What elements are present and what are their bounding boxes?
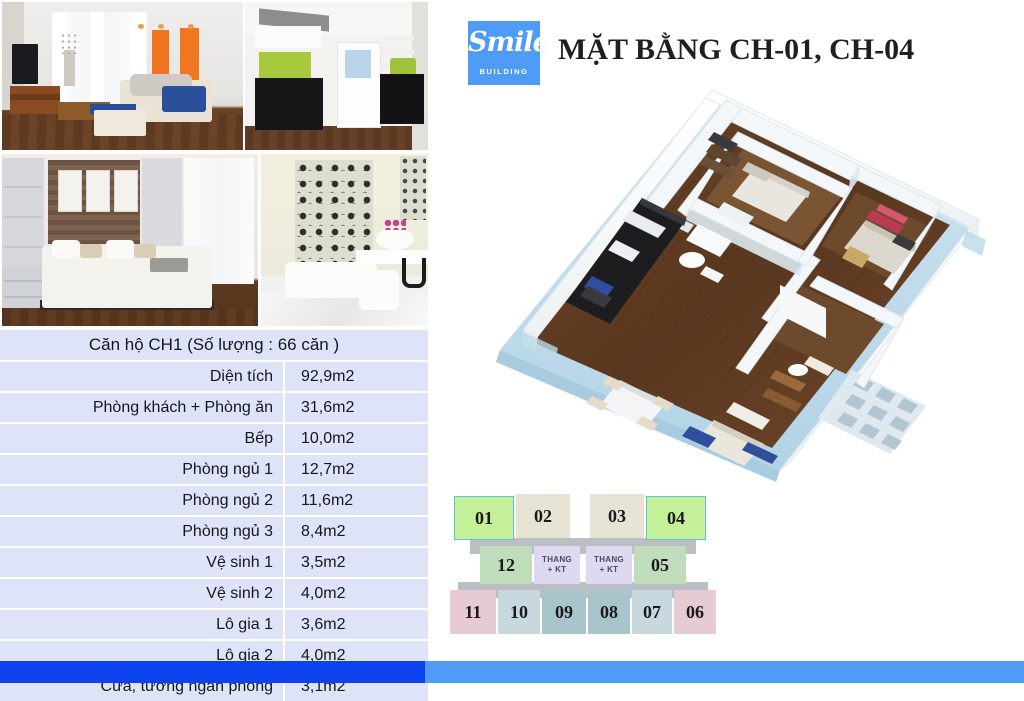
spec-row-label: Diện tích (0, 362, 285, 391)
unit-label-05: 05 (651, 555, 669, 576)
unit-label-02: 02 (534, 506, 552, 527)
unit-cell-10[interactable]: 10 (498, 590, 540, 634)
unit-label-03: 03 (608, 506, 626, 527)
stair-cell-right[interactable]: THANG + KT (586, 546, 632, 584)
unit-cell-02[interactable]: 02 (516, 494, 570, 538)
unit-label-06: 06 (686, 602, 704, 623)
unit-cell-09[interactable]: 09 (542, 590, 586, 634)
spec-row-label: Bếp (0, 424, 285, 453)
spec-row-value: 11,6m2 (285, 486, 428, 515)
spec-table-body: Diện tích92,9m2Phòng khách + Phòng ăn31,… (0, 362, 428, 701)
spec-row-label: Phòng ngủ 2 (0, 486, 285, 515)
bedroom-photo (2, 154, 258, 326)
unit-key-map: 01 02 03 04 12 THANG + KT THANG + KT (450, 492, 716, 640)
unit-cell-01[interactable]: 01 (454, 496, 514, 540)
spec-table: Căn hộ CH1 (Số lượng : 66 căn ) Diện tíc… (0, 330, 428, 701)
spec-row-value: 10,0m2 (285, 424, 428, 453)
stair-label-line1: THANG (542, 555, 572, 565)
stair-cell-left[interactable]: THANG + KT (534, 546, 580, 584)
spec-row-value: 92,9m2 (285, 362, 428, 391)
footer-bar-right (425, 661, 1024, 683)
unit-cell-03[interactable]: 03 (590, 494, 644, 538)
spec-row-label: Lô gia 1 (0, 610, 285, 639)
spec-row-value: 8,4m2 (285, 517, 428, 546)
unit-label-08: 08 (600, 602, 618, 623)
stair-label-line2: + KT (548, 565, 567, 575)
spec-row: Phòng khách + Phòng ăn31,6m2 (0, 393, 428, 424)
spec-row-label: Phòng ngủ 3 (0, 517, 285, 546)
spec-row: Diện tích92,9m2 (0, 362, 428, 393)
footer-bar-left (0, 661, 425, 683)
unit-label-01: 01 (475, 508, 493, 529)
logo-script-text: Smile (468, 27, 540, 58)
brochure-page: Căn hộ CH1 (Số lượng : 66 căn ) Diện tíc… (0, 0, 1024, 683)
spec-row-label: Phòng khách + Phòng ăn (0, 393, 285, 422)
stair-label-line2: + KT (600, 565, 619, 575)
unit-cell-07[interactable]: 07 (632, 590, 672, 634)
spec-row: Bếp10,0m2 (0, 424, 428, 455)
photo-collage (0, 0, 430, 328)
spec-row: Phòng ngủ 112,7m2 (0, 455, 428, 486)
page-title: MẶT BẰNG CH-01, CH-04 (558, 33, 1008, 67)
left-column: Căn hộ CH1 (Số lượng : 66 căn ) Diện tíc… (0, 0, 430, 683)
unit-label-10: 10 (510, 602, 528, 623)
spec-row: Lô gia 13,6m2 (0, 610, 428, 641)
spec-row-label: Vệ sinh 1 (0, 548, 285, 577)
unit-cell-12[interactable]: 12 (480, 546, 532, 584)
spec-row-label: Vệ sinh 2 (0, 579, 285, 608)
unit-label-09: 09 (555, 602, 573, 623)
stair-label-line1: THANG (594, 555, 624, 565)
bathroom-photo (261, 154, 428, 326)
spec-row-value: 3,5m2 (285, 548, 428, 577)
kitchen-corridor-photo (245, 2, 428, 150)
unit-cell-11[interactable]: 11 (450, 590, 496, 634)
floor-plan-svg (480, 70, 1000, 490)
unit-label-11: 11 (464, 602, 481, 623)
spec-row-label: Phòng ngủ 1 (0, 455, 285, 484)
spec-row: Phòng ngủ 211,6m2 (0, 486, 428, 517)
spec-row: Vệ sinh 24,0m2 (0, 579, 428, 610)
living-room-photo (2, 2, 243, 150)
spec-table-header: Căn hộ CH1 (Số lượng : 66 căn ) (0, 330, 428, 362)
spec-row-value: 3,6m2 (285, 610, 428, 639)
footer-bar (0, 661, 1024, 683)
unit-cell-04[interactable]: 04 (646, 496, 706, 540)
spec-row: Phòng ngủ 38,4m2 (0, 517, 428, 548)
unit-label-12: 12 (497, 555, 515, 576)
unit-label-07: 07 (643, 602, 661, 623)
unit-cell-05[interactable]: 05 (634, 546, 686, 584)
spec-row-value: 4,0m2 (285, 579, 428, 608)
unit-label-04: 04 (667, 508, 685, 529)
right-column: Smile BUILDING MẶT BẰNG CH-01, CH-04 (430, 0, 1024, 683)
spec-row-value: 12,7m2 (285, 455, 428, 484)
spec-row-value: 31,6m2 (285, 393, 428, 422)
unit-cell-06[interactable]: 06 (674, 590, 716, 634)
unit-cell-08[interactable]: 08 (588, 590, 630, 634)
isometric-3d-floor-plan (480, 70, 1000, 490)
spec-row: Vệ sinh 13,5m2 (0, 548, 428, 579)
